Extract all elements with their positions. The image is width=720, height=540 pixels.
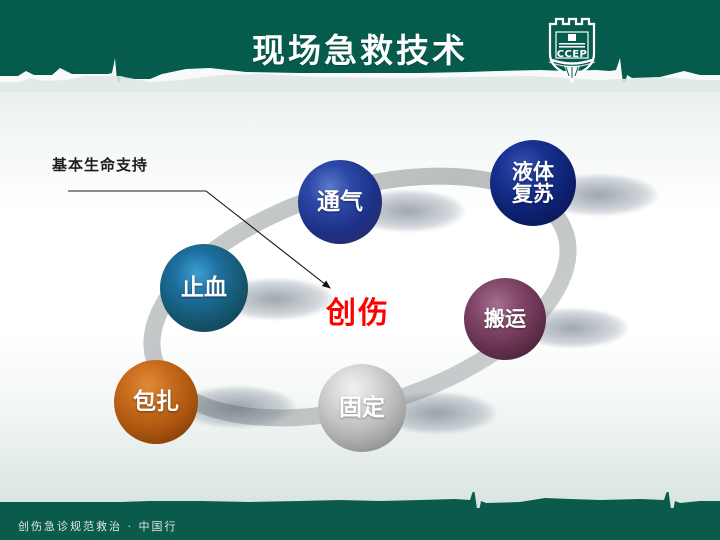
node-label: 包扎	[133, 390, 179, 414]
svg-text:CCEP: CCEP	[557, 49, 587, 60]
callout-label: 基本生命支持	[52, 154, 148, 175]
footer-text: 创伤急诊规范救治 · 中国行	[18, 518, 178, 534]
node-baozha[interactable]: 包扎	[114, 360, 198, 444]
node-yeti[interactable]: 液体复苏	[490, 140, 576, 226]
node-label: 通气	[317, 190, 363, 214]
slide-canvas: 现场急救技术 CCEP	[0, 0, 720, 540]
footer-ecg-wave-icon	[0, 492, 720, 518]
node-zhixue[interactable]: 止血	[160, 244, 248, 332]
page-title: 现场急救技术	[0, 24, 720, 72]
node-label: 止血	[181, 276, 227, 300]
node-tongqi[interactable]: 通气	[298, 160, 382, 244]
node-banyun[interactable]: 搬运	[464, 278, 546, 360]
center-label: 创伤	[326, 288, 390, 332]
node-label: 搬运	[484, 308, 526, 330]
ccep-shield-logo-icon: CCEP	[536, 10, 608, 86]
node-label: 固定	[339, 396, 385, 420]
node-label: 液体复苏	[512, 161, 554, 205]
slide-header: 现场急救技术 CCEP	[0, 0, 720, 92]
node-guding[interactable]: 固定	[318, 364, 406, 452]
slide-footer: 创伤急诊规范救治 · 中国行	[0, 492, 720, 540]
